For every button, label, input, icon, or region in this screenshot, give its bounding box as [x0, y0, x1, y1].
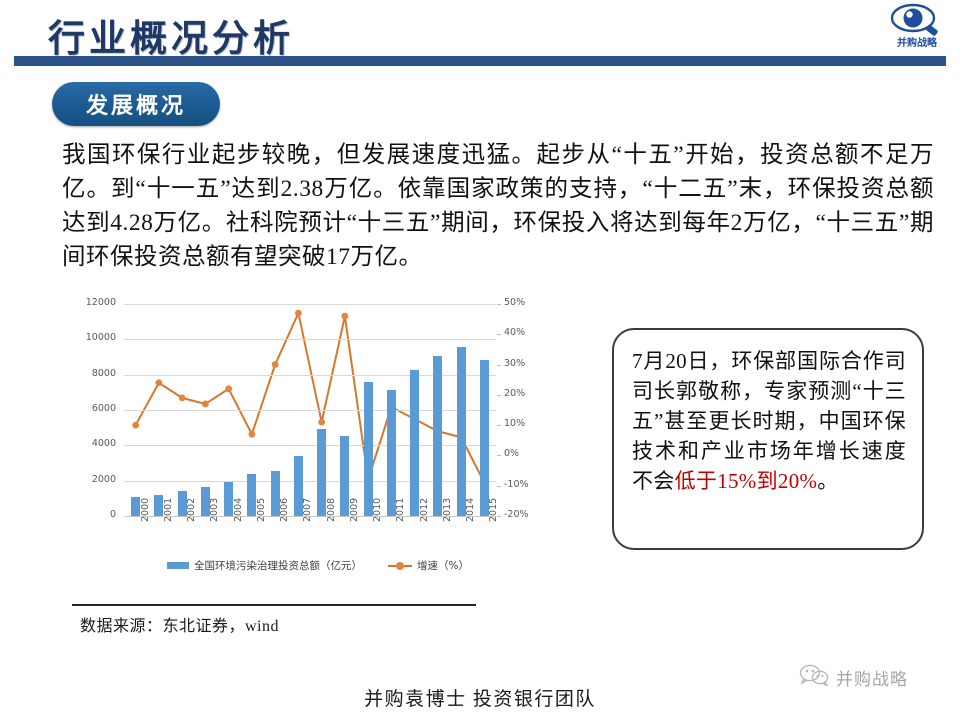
y-axis-right-tick-label: 20%: [504, 388, 525, 399]
wechat-icon: [799, 664, 829, 691]
y-axis-right-tick: [497, 395, 501, 396]
chart-bar: [317, 429, 326, 516]
y-axis-right-tick-label: 30%: [504, 358, 525, 369]
chart-bar: [433, 356, 442, 516]
callout-text-after: 。: [817, 469, 838, 493]
y-axis-right-tick-label: 50%: [504, 297, 525, 308]
chart-line-marker: [272, 361, 279, 368]
chart-line-marker: [202, 401, 209, 408]
y-axis-right-tick-label: 40%: [504, 327, 525, 338]
x-axis-tick-label: 2015: [488, 498, 499, 522]
y-axis-right-tick: [497, 455, 501, 456]
x-axis-tick-label: 2010: [372, 498, 383, 522]
chart-line-marker: [318, 419, 325, 426]
x-axis-tick-label: 2009: [349, 498, 360, 522]
x-axis-tick-label: 2008: [326, 498, 337, 522]
callout-text-highlight: 低于15%到20%: [675, 469, 818, 493]
y-axis-left-tick-label: 12000: [86, 297, 116, 308]
y-axis-left-tick-label: 2000: [92, 474, 116, 485]
chart-line-marker: [248, 431, 255, 438]
chart-line-marker: [179, 394, 186, 401]
x-axis-tick-label: 2000: [140, 498, 151, 522]
chart-bar: [410, 370, 419, 516]
x-axis-tick-label: 2003: [209, 498, 220, 522]
chart-bar: [224, 482, 233, 516]
eye-magnifier-icon: [884, 2, 950, 38]
x-axis-tick-label: 2014: [465, 498, 476, 522]
chart-gridline: [124, 339, 496, 340]
page-title: 行业概况分析: [48, 8, 294, 62]
x-axis-tick-label: 2005: [256, 498, 267, 522]
y-axis-right-tick: [497, 486, 501, 487]
y-axis-left-tick-label: 8000: [92, 368, 116, 379]
x-axis-tick-label: 2002: [186, 498, 197, 522]
y-axis-left-tick-label: 10000: [86, 332, 116, 343]
y-axis-right-tick-label: 0%: [504, 448, 519, 459]
y-axis-right-tick: [497, 365, 501, 366]
chart-line-marker: [155, 379, 162, 386]
x-axis-tick-label: 2012: [419, 498, 430, 522]
chart-gridline: [124, 304, 496, 305]
chart-line-marker: [225, 385, 232, 392]
legend-swatch-line-icon: [388, 561, 412, 570]
section-badge: 发展概况: [52, 82, 220, 126]
slide-header: 行业概况分析 并购战略: [0, 0, 960, 68]
body-paragraph: 我国环保行业起步较晚，但发展速度迅猛。起步从“十五”开始，投资总额不足万亿。到“…: [62, 138, 934, 274]
x-axis-tick-label: 2011: [395, 498, 406, 522]
source-divider: [72, 604, 476, 606]
chart-line-marker: [341, 313, 348, 320]
chart-plot-area: 020004000600080001000012000-20%-10%0%10%…: [124, 304, 496, 516]
brand-logo: 并购战略: [884, 2, 950, 60]
legend-entry-line: 增速（%）: [388, 558, 469, 573]
legend-swatch-bar-icon: [167, 562, 189, 569]
chart-bar: [131, 497, 140, 516]
y-axis-right-tick: [497, 334, 501, 335]
chart-line-marker: [295, 310, 302, 317]
section-badge-label: 发展概况: [86, 88, 186, 120]
brand-logo-label: 并购战略: [884, 38, 950, 49]
callout-box: 7月20日，环保部国际合作司司长郭敬称，专家预测“十三五”甚至更长时期，中国环保…: [612, 328, 924, 550]
x-axis-tick-label: 2006: [279, 498, 290, 522]
callout-text: 7月20日，环保部国际合作司司长郭敬称，专家预测“十三五”甚至更长时期，中国环保…: [632, 346, 906, 496]
y-axis-right-tick: [497, 425, 501, 426]
y-axis-left-tick-label: 0: [110, 509, 116, 520]
chart-line-marker: [132, 422, 139, 429]
chart-legend: 全国环境污染治理投资总额（亿元） 增速（%）: [128, 554, 508, 576]
y-axis-right-tick-label: -10%: [504, 479, 529, 490]
legend-label-line: 增速（%）: [417, 558, 469, 573]
wechat-watermark: 并购战略: [799, 664, 908, 691]
x-axis-tick-label: 2001: [163, 498, 174, 522]
legend-entry-bars: 全国环境污染治理投资总额（亿元）: [167, 558, 362, 573]
source-note: 数据来源：东北证券，wind: [80, 612, 279, 636]
y-axis-right-tick-label: -20%: [504, 509, 529, 520]
y-axis-right-tick-label: 10%: [504, 418, 525, 429]
x-axis-tick-label: 2013: [442, 498, 453, 522]
x-axis-tick-label: 2004: [233, 498, 244, 522]
y-axis-left-tick-label: 6000: [92, 403, 116, 414]
y-axis-left-tick-label: 4000: [92, 438, 116, 449]
legend-label-bars: 全国环境污染治理投资总额（亿元）: [194, 558, 362, 573]
wechat-watermark-label: 并购战略: [836, 665, 908, 690]
x-axis-tick-label: 2007: [302, 498, 313, 522]
y-axis-right-tick: [497, 304, 501, 305]
chart-bar: [364, 382, 373, 516]
header-divider: [14, 56, 946, 66]
chart-bar: [457, 347, 466, 516]
investment-chart: 020004000600080001000012000-20%-10%0%10%…: [62, 296, 572, 596]
chart-bar: [480, 360, 489, 516]
